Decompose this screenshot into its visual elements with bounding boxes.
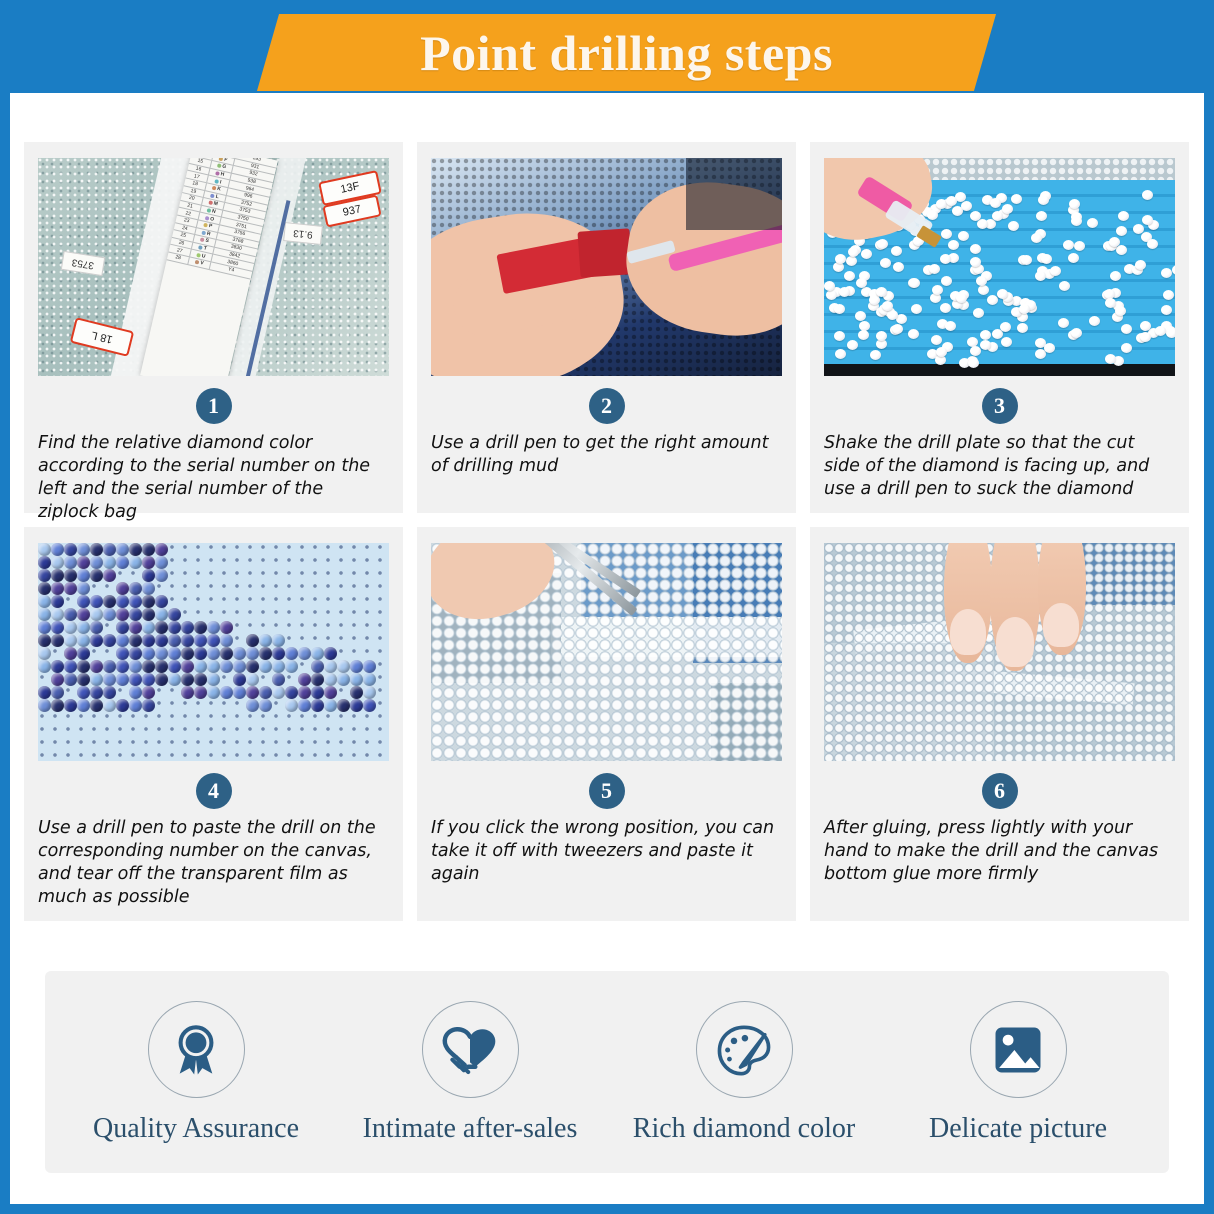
diamond-bead	[952, 206, 963, 216]
diamond-bead	[220, 660, 233, 673]
diamond-bead	[90, 608, 103, 621]
diamond-bead	[181, 686, 194, 699]
diamond-bead	[181, 673, 194, 686]
diamond-bead	[298, 699, 311, 712]
diamond-bead	[1071, 216, 1082, 226]
diamond-bead	[51, 686, 64, 699]
diamond-bead	[155, 569, 168, 582]
step-card-6: 6 After gluing, press lightly with your …	[810, 527, 1189, 921]
diamond-bead	[1140, 321, 1151, 331]
diamond-bead	[233, 686, 246, 699]
feature-label: Quality Assurance	[93, 1115, 299, 1143]
diamond-bead	[1142, 190, 1153, 200]
step-3-photo	[824, 158, 1175, 376]
diamond-bead	[1008, 221, 1019, 231]
diamond-bead	[194, 673, 207, 686]
diamond-bead	[1011, 194, 1022, 204]
step-4-photo	[38, 543, 389, 761]
diamond-bead	[847, 340, 858, 350]
diamond-bead	[129, 647, 142, 660]
diamond-bead	[285, 660, 298, 673]
content-sheet: 13E89314F93115G93216H93817I96418K99619L3…	[10, 93, 1204, 1204]
diamond-bead	[1002, 204, 1013, 214]
page-title: Point drilling steps	[268, 14, 985, 91]
diamond-bead	[38, 556, 51, 569]
diamond-bead	[861, 249, 872, 259]
diamond-bead	[103, 569, 116, 582]
diamond-bead	[116, 621, 129, 634]
diamond-bead	[168, 634, 181, 647]
diamond-bead	[155, 647, 168, 660]
diamond-bead	[90, 595, 103, 608]
diamond-bead	[246, 647, 259, 660]
diamond-bead	[272, 686, 285, 699]
diamond-bead	[1116, 245, 1127, 255]
diamond-bead	[90, 634, 103, 647]
step-card-1: 13E89314F93115G93216H93817I96418K99619L3…	[24, 142, 403, 513]
diamond-bead	[967, 337, 978, 347]
diamond-bead	[1059, 281, 1070, 291]
diamond-bead	[931, 335, 942, 345]
diamond-bead	[980, 340, 991, 350]
diamond-bead	[129, 660, 142, 673]
diamond-bead	[846, 256, 857, 266]
diamond-bead	[285, 699, 298, 712]
label-tag-913: 9.13	[283, 222, 323, 245]
diamond-bead	[970, 211, 981, 221]
diamond-bead	[155, 660, 168, 673]
diamond-bead	[142, 699, 155, 712]
diamond-bead	[77, 582, 90, 595]
step-number-badge: 6	[982, 773, 1018, 809]
diamond-bead	[1044, 343, 1055, 353]
diamond-bead	[324, 699, 337, 712]
feature-quality-assurance: Quality Assurance	[61, 1001, 331, 1143]
diamond-bead	[142, 673, 155, 686]
diamond-bead	[324, 686, 337, 699]
diamond-bead	[298, 647, 311, 660]
feature-intimate-after-sales: Intimate after-sales	[335, 1001, 605, 1143]
step-caption: If you click the wrong position, you can…	[431, 817, 782, 886]
diamond-bead	[38, 634, 51, 647]
diamond-bead	[64, 621, 77, 634]
step-number-badge: 1	[196, 388, 232, 424]
diamond-bead	[38, 686, 51, 699]
step-card-5: 5 If you click the wrong position, you c…	[417, 527, 796, 921]
diamond-bead	[946, 196, 957, 206]
diamond-bead	[350, 673, 363, 686]
diamond-bead	[298, 673, 311, 686]
diamond-bead	[51, 621, 64, 634]
diamond-bead	[363, 660, 376, 673]
diamond-bead	[844, 271, 855, 281]
diamond-bead	[324, 660, 337, 673]
diamond-bead	[168, 673, 181, 686]
diamond-bead	[948, 240, 959, 250]
diamond-bead	[285, 647, 298, 660]
diamond-bead	[324, 673, 337, 686]
diamond-bead	[220, 621, 233, 634]
diamond-bead	[181, 660, 194, 673]
diamond-bead	[51, 556, 64, 569]
diamond-bead	[194, 634, 207, 647]
diamond-bead	[194, 647, 207, 660]
diamond-bead	[90, 543, 103, 556]
diamond-bead	[116, 699, 129, 712]
diamond-bead	[929, 264, 940, 274]
diamond-bead	[64, 569, 77, 582]
diamond-bead	[976, 276, 987, 286]
diamond-bead	[77, 673, 90, 686]
diamond-bead	[1161, 268, 1172, 278]
diamond-bead	[1133, 224, 1144, 234]
diamond-bead	[142, 543, 155, 556]
step-caption: Use a drill pen to paste the drill on th…	[38, 817, 389, 909]
diamond-bead	[363, 699, 376, 712]
steps-grid: 13E89314F93115G93216H93817I96418K99619L3…	[24, 142, 1190, 921]
diamond-bead	[90, 660, 103, 673]
diamond-bead	[181, 647, 194, 660]
picture-icon	[970, 1001, 1067, 1098]
diamond-bead	[38, 621, 51, 634]
diamond-bead	[142, 634, 155, 647]
diamond-bead	[956, 293, 967, 303]
diamond-bead	[90, 699, 103, 712]
diamond-bead	[142, 608, 155, 621]
diamond-bead	[259, 634, 272, 647]
diamond-bead	[181, 634, 194, 647]
diamond-bead	[1071, 328, 1082, 338]
diamond-bead	[77, 660, 90, 673]
diamond-bead	[103, 660, 116, 673]
diamond-bead	[38, 699, 51, 712]
diamond-bead	[870, 350, 881, 360]
diamond-bead	[350, 660, 363, 673]
diamond-bead	[90, 673, 103, 686]
diamond-bead	[129, 634, 142, 647]
diamond-bead	[1161, 305, 1172, 315]
diamond-bead	[38, 543, 51, 556]
diamond-bead	[77, 621, 90, 634]
step-caption: After gluing, press lightly with your ha…	[824, 817, 1175, 886]
diamond-bead	[932, 285, 943, 295]
step-number-badge: 4	[196, 773, 232, 809]
diamond-bead	[129, 673, 142, 686]
diamond-bead	[38, 608, 51, 621]
diamond-bead	[51, 543, 64, 556]
header-band: Point drilling steps	[0, 0, 1214, 93]
diamond-bead	[181, 621, 194, 634]
diamond-bead	[911, 304, 922, 314]
diamond-bead	[233, 673, 246, 686]
diamond-bead	[129, 595, 142, 608]
diamond-bead	[1069, 199, 1080, 209]
diamond-bead	[970, 244, 981, 254]
diamond-bead	[259, 647, 272, 660]
diamond-bead	[103, 699, 116, 712]
diamond-bead	[1036, 211, 1047, 221]
diamond-bead	[142, 660, 155, 673]
diamond-bead	[77, 556, 90, 569]
diamond-bead	[77, 699, 90, 712]
diamond-bead	[246, 673, 259, 686]
diamond-bead	[1115, 306, 1126, 316]
diamond-bead	[129, 699, 142, 712]
diamond-bead	[155, 621, 168, 634]
step-number-badge: 2	[589, 388, 625, 424]
diamond-bead	[168, 608, 181, 621]
diamond-bead	[51, 673, 64, 686]
diamond-bead	[51, 660, 64, 673]
diamond-bead	[1109, 237, 1120, 247]
diamond-bead	[311, 660, 324, 673]
diamond-bead	[220, 634, 233, 647]
diamond-bead	[259, 660, 272, 673]
diamond-bead	[155, 595, 168, 608]
step-caption: Find the relative diamond color accordin…	[38, 432, 389, 524]
diamond-bead	[970, 346, 981, 356]
diamond-bead	[992, 211, 1003, 221]
diamond-bead	[77, 595, 90, 608]
diamond-bead	[77, 608, 90, 621]
diamond-bead	[1019, 304, 1030, 314]
diamond-bead	[1166, 328, 1175, 338]
diamond-bead	[116, 660, 129, 673]
diamond-bead	[116, 634, 129, 647]
diamond-bead	[324, 647, 337, 660]
diamond-bead	[1105, 354, 1116, 364]
diamond-bead	[824, 281, 835, 291]
step-number-badge: 3	[982, 388, 1018, 424]
diamond-bead	[1001, 337, 1012, 347]
diamond-bead	[834, 331, 845, 341]
diamond-bead	[835, 349, 846, 359]
diamond-bead	[1050, 266, 1061, 276]
diamond-bead	[77, 686, 90, 699]
diamond-bead	[246, 686, 259, 699]
diamond-bead	[142, 556, 155, 569]
diamond-bead	[116, 543, 129, 556]
diamond-bead	[77, 647, 90, 660]
diamond-bead	[168, 647, 181, 660]
diamond-bead	[90, 621, 103, 634]
diamond-bead	[155, 608, 168, 621]
diamond-bead	[38, 647, 51, 660]
step-2-photo	[431, 158, 782, 376]
diamond-bead	[51, 699, 64, 712]
diamond-bead	[233, 660, 246, 673]
diamond-bead	[977, 219, 988, 229]
diamond-bead	[103, 556, 116, 569]
diamond-bead	[116, 608, 129, 621]
diamond-bead	[194, 621, 207, 634]
diamond-bead	[38, 595, 51, 608]
diamond-bead	[311, 647, 324, 660]
diamond-bead	[103, 673, 116, 686]
diamond-bead	[142, 569, 155, 582]
diamond-bead	[941, 229, 952, 239]
diamond-bead	[220, 647, 233, 660]
nail-2	[996, 617, 1034, 667]
diamond-bead	[38, 582, 51, 595]
step-card-3: 3 Shake the drill plate so that the cut …	[810, 142, 1189, 513]
diamond-bead	[129, 621, 142, 634]
diamond-bead	[311, 686, 324, 699]
diamond-bead	[839, 287, 850, 297]
diamond-bead	[246, 660, 259, 673]
step-6-photo	[824, 543, 1175, 761]
step-card-2: 2 Use a drill pen to get the right amoun…	[417, 142, 796, 513]
diamond-bead	[350, 686, 363, 699]
diamond-bead	[168, 621, 181, 634]
diamond-bead	[51, 582, 64, 595]
dark-shadow-area	[686, 158, 782, 230]
diamond-bead	[246, 699, 259, 712]
diamond-bead	[350, 699, 363, 712]
step-card-4: 4 Use a drill pen to paste the drill on …	[24, 527, 403, 921]
diamond-bead	[51, 595, 64, 608]
diamond-bead	[38, 569, 51, 582]
diamond-bead	[64, 543, 77, 556]
award-ribbon-icon	[148, 1001, 245, 1098]
diamond-bead	[1041, 254, 1052, 264]
diamond-bead	[155, 673, 168, 686]
diamond-bead	[155, 634, 168, 647]
diamond-bead	[90, 569, 103, 582]
diamond-bead	[363, 673, 376, 686]
diamond-bead	[337, 660, 350, 673]
diamond-bead	[64, 608, 77, 621]
diamond-bead	[116, 582, 129, 595]
diamond-bead	[129, 608, 142, 621]
diamond-bead	[285, 686, 298, 699]
diamond-bead	[129, 582, 142, 595]
diamond-bead	[116, 673, 129, 686]
diamond-bead	[103, 608, 116, 621]
diamond-bead	[64, 660, 77, 673]
diamond-bead	[194, 686, 207, 699]
diamond-bead	[51, 569, 64, 582]
diamond-bead	[1105, 298, 1116, 308]
diamond-bead	[64, 673, 77, 686]
diamond-bead	[64, 556, 77, 569]
paint-palette-icon	[696, 1001, 793, 1098]
diamond-bead	[272, 634, 285, 647]
diamond-bead	[893, 262, 904, 272]
diamond-bead	[311, 699, 324, 712]
diamond-bead	[337, 699, 350, 712]
diamond-bead	[142, 621, 155, 634]
diamond-bead	[891, 246, 902, 256]
feature-delicate-picture: Delicate picture	[883, 1001, 1153, 1143]
feature-rich-diamond-color: Rich diamond color	[609, 1001, 879, 1143]
diamond-bead	[51, 608, 64, 621]
diamond-bead	[968, 358, 979, 368]
diamond-bead	[855, 311, 866, 321]
diamond-bead	[142, 582, 155, 595]
step-5-photo	[431, 543, 782, 761]
diamond-bead	[116, 595, 129, 608]
diamond-bead	[233, 647, 246, 660]
nail-1	[950, 609, 986, 655]
diamond-bead	[90, 556, 103, 569]
features-bar: Quality Assurance Intimate after-sales	[45, 971, 1169, 1173]
diamond-bead	[64, 634, 77, 647]
diamond-bead	[927, 210, 938, 220]
diamond-bead	[207, 673, 220, 686]
diamond-bead	[1142, 215, 1153, 225]
diamond-bead	[129, 543, 142, 556]
diamond-bead	[142, 647, 155, 660]
diamond-bead	[272, 647, 285, 660]
diamond-bead	[168, 660, 181, 673]
diamond-bead	[272, 660, 285, 673]
diamond-bead	[129, 686, 142, 699]
diamond-bead	[64, 582, 77, 595]
infographic-page: Point drilling steps 13E89314F93115G9321…	[0, 0, 1214, 1214]
feature-label: Intimate after-sales	[363, 1115, 578, 1143]
nail-3	[1043, 603, 1079, 647]
step-number-badge: 5	[589, 773, 625, 809]
diamond-bead	[1087, 218, 1098, 228]
diamond-bead	[207, 686, 220, 699]
diamond-bead	[38, 660, 51, 673]
diamond-bead	[103, 595, 116, 608]
diamond-bead	[978, 285, 989, 295]
diamond-bead	[103, 686, 116, 699]
diamond-bead	[116, 647, 129, 660]
diamond-bead	[958, 231, 969, 241]
diamond-bead	[887, 310, 898, 320]
diamond-bead	[220, 686, 233, 699]
feature-label: Rich diamond color	[633, 1115, 855, 1143]
handshake-heart-icon	[422, 1001, 519, 1098]
diamond-bead	[363, 686, 376, 699]
diamond-bead	[64, 699, 77, 712]
diamond-bead	[1121, 343, 1132, 353]
diamond-bead	[207, 634, 220, 647]
diamond-bead	[64, 647, 77, 660]
tray-shadow	[824, 364, 1175, 376]
diamond-bead	[77, 543, 90, 556]
diamond-bead	[1021, 255, 1032, 265]
diamond-bead	[259, 686, 272, 699]
diamond-bead	[129, 556, 142, 569]
diamond-bead	[207, 621, 220, 634]
diamond-bead	[207, 647, 220, 660]
diamond-bead	[194, 660, 207, 673]
diamond-bead	[103, 634, 116, 647]
diamond-bead	[272, 673, 285, 686]
diamond-bead	[337, 673, 350, 686]
diamond-bead	[246, 634, 259, 647]
diamond-bead	[155, 556, 168, 569]
diamond-bead	[298, 686, 311, 699]
diamond-bead	[940, 303, 951, 313]
step-caption: Shake the drill plate so that the cut si…	[824, 432, 1175, 501]
diamond-bead	[980, 330, 991, 340]
diamond-bead	[1031, 233, 1042, 243]
step-1-photo: 13E89314F93115G93216H93817I96418K99619L3…	[38, 158, 389, 376]
feature-label: Delicate picture	[929, 1115, 1107, 1143]
diamond-bead	[1035, 271, 1046, 281]
step-caption: Use a drill pen to get the right amount …	[431, 432, 782, 478]
diamond-bead	[116, 556, 129, 569]
diamond-bead	[103, 543, 116, 556]
diamond-bead	[142, 595, 155, 608]
diamond-bead	[155, 543, 168, 556]
diamond-bead	[973, 308, 984, 318]
